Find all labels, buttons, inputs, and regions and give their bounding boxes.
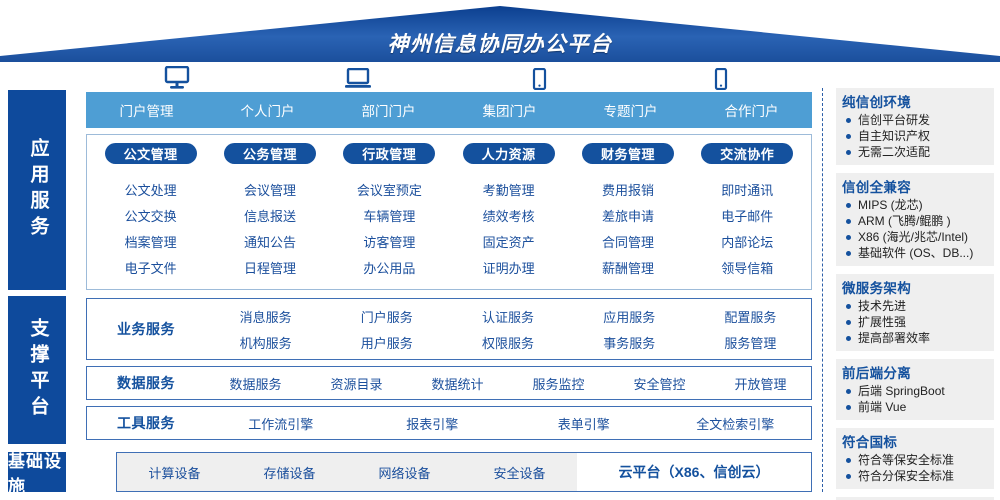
phone-icon bbox=[631, 68, 813, 90]
app-item-1-3[interactable]: 日程管理 bbox=[244, 262, 296, 275]
band-support-platform: 支撑平台 bbox=[8, 296, 66, 444]
app-item-5-0[interactable]: 即时通讯 bbox=[721, 184, 773, 197]
sidebar-title-1: 信创全兼容 bbox=[842, 176, 988, 196]
app-item-5-3[interactable]: 领导信箱 bbox=[721, 262, 773, 275]
sidebar-li-1-2: X86 (海光/兆芯/Intel) bbox=[842, 230, 988, 245]
sidebar-text-2-2: 提高部署效率 bbox=[858, 331, 930, 346]
data-item-0[interactable]: 数据服务 bbox=[205, 374, 306, 393]
app-item-1-2[interactable]: 通知公告 bbox=[244, 236, 296, 249]
bullet-dot-icon bbox=[846, 389, 851, 394]
sidebar-text-1-1: ARM (飞腾/鲲鹏 ) bbox=[858, 214, 951, 229]
data-item-3[interactable]: 服务监控 bbox=[508, 374, 609, 393]
app-item-2-1[interactable]: 车辆管理 bbox=[363, 210, 415, 223]
app-column-5: 交流协作 即时通讯 电子邮件 内部论坛 领导信箱 bbox=[688, 143, 807, 285]
app-item-3-0[interactable]: 考勤管理 bbox=[483, 184, 535, 197]
bullet-dot-icon bbox=[846, 150, 851, 155]
bullet-dot-icon bbox=[846, 474, 851, 479]
infra-item-0[interactable]: 计算设备 bbox=[117, 463, 232, 482]
app-column-head-5[interactable]: 交流协作 bbox=[701, 143, 793, 164]
app-column-2: 行政管理 会议室预定 车辆管理 访客管理 办公用品 bbox=[330, 143, 449, 285]
app-item-0-1[interactable]: 公文交换 bbox=[125, 210, 177, 223]
support-data-items: 数据服务 资源目录 数据统计 服务监控 安全管控 开放管理 bbox=[205, 370, 811, 396]
app-item-0-2[interactable]: 档案管理 bbox=[125, 236, 177, 249]
sidebar-li-2-1: 扩展性强 bbox=[842, 315, 988, 330]
app-column-head-3[interactable]: 人力资源 bbox=[463, 143, 555, 164]
support-tools-row: 工作流引擎 报表引擎 表单引擎 全文检索引擎 bbox=[205, 410, 811, 436]
sidebar-li-4-0: 符合等保安全标准 bbox=[842, 453, 988, 468]
app-item-4-2[interactable]: 合同管理 bbox=[602, 236, 654, 249]
sidebar-card-3: 前后端分离 后端 SpringBoot 前端 Vue bbox=[836, 359, 994, 420]
feature-sidebar: 纯信创环境 信创平台研发 自主知识产权 无需二次适配 信创全兼容 MIPS (龙… bbox=[836, 88, 994, 492]
sidebar-li-2-0: 技术先进 bbox=[842, 299, 988, 314]
sidebar-card-0: 纯信创环境 信创平台研发 自主知识产权 无需二次适配 bbox=[836, 88, 994, 165]
support-business-row-1: 消息服务 门户服务 认证服务 应用服务 配置服务 bbox=[205, 303, 811, 329]
tool-item-3[interactable]: 全文检索引擎 bbox=[660, 414, 812, 433]
app-column-1: 公务管理 会议管理 信息报送 通知公告 日程管理 bbox=[210, 143, 329, 285]
app-item-2-3[interactable]: 办公用品 bbox=[363, 262, 415, 275]
app-column-4: 财务管理 费用报销 差旅申请 合同管理 薪酬管理 bbox=[568, 143, 687, 285]
data-item-5[interactable]: 开放管理 bbox=[710, 374, 811, 393]
infra-item-2[interactable]: 网络设备 bbox=[347, 463, 462, 482]
bullet-dot-icon bbox=[846, 219, 851, 224]
sidebar-title-3: 前后端分离 bbox=[842, 362, 988, 382]
sidebar-text-4-0: 符合等保安全标准 bbox=[858, 453, 954, 468]
sidebar-li-4-1: 符合分保安全标准 bbox=[842, 469, 988, 484]
sidebar-title-4: 符合国标 bbox=[842, 431, 988, 451]
bullet-dot-icon bbox=[846, 251, 851, 256]
infrastructure-devices: 计算设备 存储设备 网络设备 安全设备 bbox=[117, 453, 577, 491]
app-column-head-0[interactable]: 公文管理 bbox=[105, 143, 197, 164]
support-business-label: 业务服务 bbox=[87, 319, 205, 339]
sidebar-card-1: 信创全兼容 MIPS (龙芯) ARM (飞腾/鲲鹏 ) X86 (海光/兆芯/… bbox=[836, 173, 994, 266]
sidebar-li-0-2: 无需二次适配 bbox=[842, 145, 988, 160]
business-item-0-1[interactable]: 门户服务 bbox=[326, 307, 447, 326]
sidebar-divider bbox=[822, 88, 823, 492]
app-column-head-2[interactable]: 行政管理 bbox=[343, 143, 435, 164]
sidebar-text-3-1: 前端 Vue bbox=[858, 400, 906, 415]
infra-cloud-platform[interactable]: 云平台（X86、信创云） bbox=[577, 462, 811, 482]
app-item-2-0[interactable]: 会议室预定 bbox=[357, 184, 422, 197]
app-item-3-2[interactable]: 固定资产 bbox=[483, 236, 535, 249]
sidebar-text-0-2: 无需二次适配 bbox=[858, 145, 930, 160]
support-tool-services: 工具服务 工作流引擎 报表引擎 表单引擎 全文检索引擎 bbox=[86, 406, 812, 440]
sidebar-text-3-0: 后端 SpringBoot bbox=[858, 384, 945, 399]
support-tools-label: 工具服务 bbox=[87, 413, 205, 433]
bullet-dot-icon bbox=[846, 134, 851, 139]
band-support-label: 支撑平台 bbox=[27, 318, 48, 422]
portal-item-0[interactable]: 门户管理 bbox=[86, 100, 207, 120]
bullet-dot-icon bbox=[846, 320, 851, 325]
support-data-label: 数据服务 bbox=[87, 373, 205, 393]
bullet-dot-icon bbox=[846, 203, 851, 208]
sidebar-li-3-1: 前端 Vue bbox=[842, 400, 988, 415]
sidebar-text-0-0: 信创平台研发 bbox=[858, 113, 930, 128]
app-column-3: 人力资源 考勤管理 绩效考核 固定资产 证明办理 bbox=[449, 143, 568, 285]
title-banner: 神州信息协同办公平台 bbox=[0, 6, 1000, 62]
support-business-row-2: 机构服务 用户服务 权限服务 事务服务 服务管理 bbox=[205, 329, 811, 355]
sidebar-li-3-0: 后端 SpringBoot bbox=[842, 384, 988, 399]
app-item-0-3[interactable]: 电子文件 bbox=[125, 262, 177, 275]
data-item-1[interactable]: 资源目录 bbox=[306, 374, 407, 393]
app-item-1-0[interactable]: 会议管理 bbox=[244, 184, 296, 197]
band-infrastructure-label: 基础设施 bbox=[8, 447, 66, 497]
app-item-2-2[interactable]: 访客管理 bbox=[363, 236, 415, 249]
support-business-services: 业务服务 消息服务 门户服务 认证服务 应用服务 配置服务 机构服务 用户服务 … bbox=[86, 298, 812, 360]
device-icon-row bbox=[86, 62, 812, 90]
app-item-5-2[interactable]: 内部论坛 bbox=[721, 236, 773, 249]
tool-item-0[interactable]: 工作流引擎 bbox=[205, 414, 357, 433]
app-item-4-1[interactable]: 差旅申请 bbox=[602, 210, 654, 223]
infra-item-3[interactable]: 安全设备 bbox=[462, 463, 577, 482]
app-column-0: 公文管理 公文处理 公文交换 档案管理 电子文件 bbox=[91, 143, 210, 285]
infrastructure-box: 计算设备 存储设备 网络设备 安全设备 云平台（X86、信创云） bbox=[116, 452, 812, 492]
business-item-1-2[interactable]: 权限服务 bbox=[447, 333, 568, 352]
sidebar-card-4: 符合国标 符合等保安全标准 符合分保安全标准 bbox=[836, 428, 994, 489]
tool-item-1[interactable]: 报表引擎 bbox=[357, 414, 509, 433]
sidebar-text-2-0: 技术先进 bbox=[858, 299, 906, 314]
band-application-services: 应用服务 bbox=[8, 90, 66, 290]
bullet-dot-icon bbox=[846, 118, 851, 123]
portal-item-2[interactable]: 部门门户 bbox=[328, 100, 449, 120]
bullet-dot-icon bbox=[846, 458, 851, 463]
sidebar-text-1-2: X86 (海光/兆芯/Intel) bbox=[858, 230, 968, 245]
tool-item-2[interactable]: 表单引擎 bbox=[508, 414, 660, 433]
bullet-dot-icon bbox=[846, 336, 851, 341]
application-services-grid: 公文管理 公文处理 公文交换 档案管理 电子文件 公务管理 会议管理 信息报送 … bbox=[86, 134, 812, 290]
sidebar-li-1-3: 基础软件 (OS、DB...) bbox=[842, 246, 988, 261]
support-business-items: 消息服务 门户服务 认证服务 应用服务 配置服务 机构服务 用户服务 权限服务 … bbox=[205, 303, 811, 355]
laptop-icon bbox=[268, 68, 450, 90]
app-item-4-3[interactable]: 薪酬管理 bbox=[602, 262, 654, 275]
sidebar-text-1-3: 基础软件 (OS、DB...) bbox=[858, 246, 973, 261]
desktop-monitor-icon bbox=[86, 66, 268, 90]
portal-bar: 门户管理 个人门户 部门门户 集团门户 专题门户 合作门户 bbox=[86, 92, 812, 128]
business-item-1-1[interactable]: 用户服务 bbox=[326, 333, 447, 352]
data-item-2[interactable]: 数据统计 bbox=[407, 374, 508, 393]
support-data-row: 数据服务 资源目录 数据统计 服务监控 安全管控 开放管理 bbox=[205, 370, 811, 396]
portal-item-5[interactable]: 合作门户 bbox=[691, 100, 812, 120]
support-data-services: 数据服务 数据服务 资源目录 数据统计 服务监控 安全管控 开放管理 bbox=[86, 366, 812, 400]
data-item-4[interactable]: 安全管控 bbox=[609, 374, 710, 393]
sidebar-li-0-0: 信创平台研发 bbox=[842, 113, 988, 128]
sidebar-card-2: 微服务架构 技术先进 扩展性强 提高部署效率 bbox=[836, 274, 994, 351]
app-column-head-4[interactable]: 财务管理 bbox=[582, 143, 674, 164]
app-item-5-1[interactable]: 电子邮件 bbox=[721, 210, 773, 223]
sidebar-text-1-0: MIPS (龙芯) bbox=[858, 198, 923, 213]
sidebar-li-0-1: 自主知识产权 bbox=[842, 129, 988, 144]
business-item-1-4[interactable]: 服务管理 bbox=[690, 333, 811, 352]
business-item-0-2[interactable]: 认证服务 bbox=[447, 307, 568, 326]
sidebar-text-2-1: 扩展性强 bbox=[858, 315, 906, 330]
sidebar-li-1-0: MIPS (龙芯) bbox=[842, 198, 988, 213]
app-item-3-3[interactable]: 证明办理 bbox=[483, 262, 535, 275]
app-item-1-1[interactable]: 信息报送 bbox=[244, 210, 296, 223]
sidebar-li-1-1: ARM (飞腾/鲲鹏 ) bbox=[842, 214, 988, 229]
support-tools-items: 工作流引擎 报表引擎 表单引擎 全文检索引擎 bbox=[205, 410, 811, 436]
portal-item-3[interactable]: 集团门户 bbox=[449, 100, 570, 120]
sidebar-text-4-1: 符合分保安全标准 bbox=[858, 469, 954, 484]
sidebar-text-0-1: 自主知识产权 bbox=[858, 129, 930, 144]
app-item-4-0[interactable]: 费用报销 bbox=[602, 184, 654, 197]
diagram-root: 神州信息协同办公平台 bbox=[0, 0, 1000, 500]
business-item-1-3[interactable]: 事务服务 bbox=[569, 333, 690, 352]
sidebar-li-2-2: 提高部署效率 bbox=[842, 331, 988, 346]
band-infrastructure: 基础设施 bbox=[8, 452, 66, 492]
band-application-label: 应用服务 bbox=[27, 138, 48, 242]
app-column-head-1[interactable]: 公务管理 bbox=[224, 143, 316, 164]
sidebar-title-0: 纯信创环境 bbox=[842, 91, 988, 111]
sidebar-title-2: 微服务架构 bbox=[842, 277, 988, 297]
bullet-dot-icon bbox=[846, 405, 851, 410]
portal-item-1[interactable]: 个人门户 bbox=[207, 100, 328, 120]
bullet-dot-icon bbox=[846, 304, 851, 309]
tablet-icon bbox=[449, 68, 631, 90]
business-item-1-0[interactable]: 机构服务 bbox=[205, 333, 326, 352]
business-item-0-4[interactable]: 配置服务 bbox=[690, 307, 811, 326]
page-title: 神州信息协同办公平台 bbox=[0, 28, 1000, 58]
bullet-dot-icon bbox=[846, 235, 851, 240]
business-item-0-3[interactable]: 应用服务 bbox=[569, 307, 690, 326]
portal-item-4[interactable]: 专题门户 bbox=[570, 100, 691, 120]
infra-item-1[interactable]: 存储设备 bbox=[232, 463, 347, 482]
app-item-3-1[interactable]: 绩效考核 bbox=[483, 210, 535, 223]
app-item-0-0[interactable]: 公文处理 bbox=[125, 184, 177, 197]
business-item-0-0[interactable]: 消息服务 bbox=[205, 307, 326, 326]
